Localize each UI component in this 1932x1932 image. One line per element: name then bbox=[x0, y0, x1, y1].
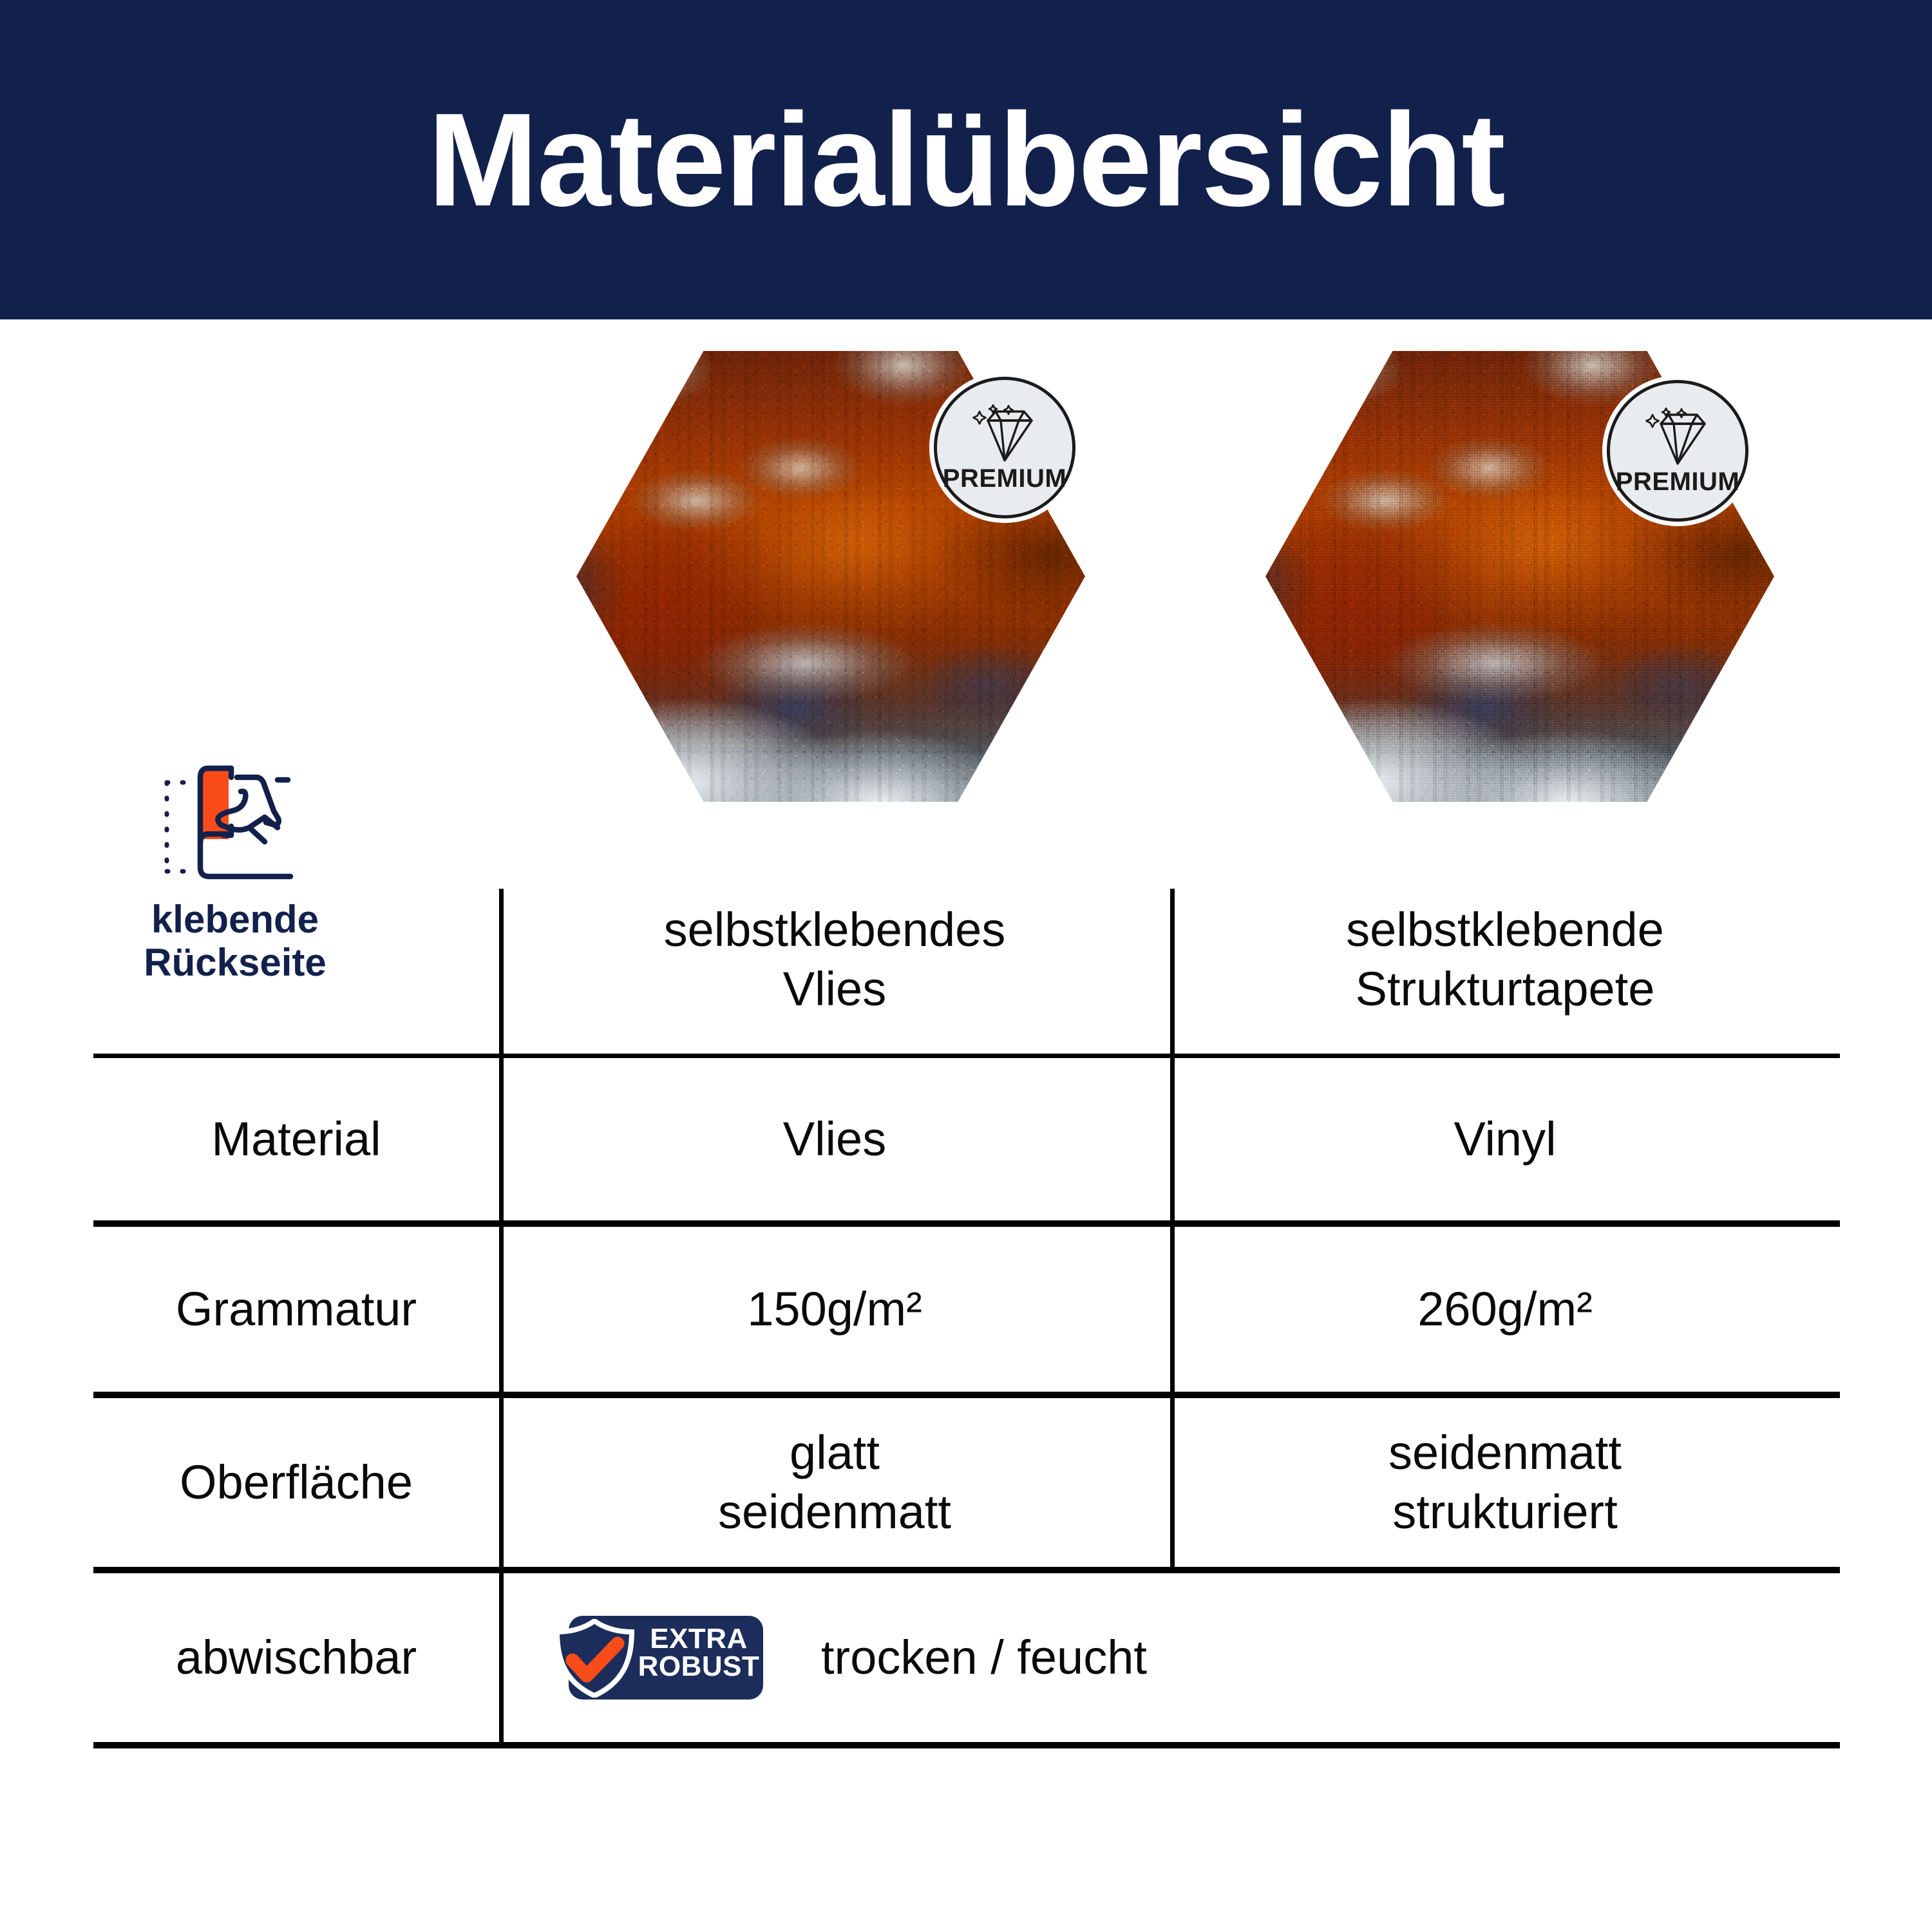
row-divider bbox=[93, 1220, 1840, 1227]
material-comparison-table: selbstklebendes Vlies selbstklebende Str… bbox=[93, 889, 1840, 1748]
diamond-icon bbox=[969, 404, 1041, 463]
table-row-oberflaeche: Oberfläche glatt seidenmatt seidenmatt s… bbox=[93, 1398, 1840, 1567]
extra-robust-line2: ROBUST bbox=[636, 1653, 762, 1680]
product-name-vlies-line2: Vlies bbox=[783, 962, 886, 1016]
table-row-material: Material Vlies Vinyl bbox=[93, 1058, 1840, 1220]
oberflaeche-vlies-line1: glatt bbox=[790, 1426, 880, 1479]
premium-badge-strukturtapete: PREMIUM bbox=[1607, 380, 1748, 522]
oberflaeche-strukturtapete-line2: strukturiert bbox=[1392, 1485, 1618, 1539]
cell-abwischbar-value: EXTRA ROBUST trocken / feucht bbox=[499, 1573, 1840, 1742]
cell-material-vlies: Vlies bbox=[499, 1058, 1170, 1220]
table-row-abwischbar: abwischbar EXTRA ROBUST trocken / feucht bbox=[93, 1573, 1840, 1742]
premium-badge-vlies: PREMIUM bbox=[934, 377, 1075, 518]
column-divider-2 bbox=[1170, 1058, 1175, 1220]
table-row-product-names: selbstklebendes Vlies selbstklebende Str… bbox=[93, 889, 1840, 1054]
cell-product-name-strukturtapete: selbstklebende Strukturtapete bbox=[1170, 889, 1840, 1054]
diamond-icon bbox=[1642, 407, 1714, 466]
sample-preview-strukturtapete: PREMIUM bbox=[1265, 351, 1774, 802]
cell-product-name-vlies: selbstklebendes Vlies bbox=[499, 889, 1170, 1054]
material-overview-page: Materialübersicht bbox=[0, 0, 1932, 1932]
row-divider bbox=[93, 1392, 1840, 1398]
column-divider-2 bbox=[1170, 1227, 1175, 1392]
extra-robust-badge: EXTRA ROBUST bbox=[551, 1616, 763, 1700]
cell-oberflaeche-strukturtapete: seidenmatt strukturiert bbox=[1170, 1398, 1840, 1567]
cell-grammatur-strukturtapete: 260g/m² bbox=[1170, 1227, 1840, 1392]
row-label-grammatur: Grammatur bbox=[93, 1227, 499, 1392]
row-divider bbox=[93, 1054, 1840, 1058]
row-divider bbox=[93, 1567, 1840, 1573]
premium-badge-label: PREMIUM bbox=[1616, 469, 1739, 495]
column-divider-1 bbox=[499, 1058, 504, 1220]
oberflaeche-vlies-line2: seidenmatt bbox=[718, 1485, 951, 1539]
row-label-material: Material bbox=[93, 1058, 499, 1220]
cell-material-strukturtapete: Vinyl bbox=[1170, 1058, 1840, 1220]
shield-check-icon bbox=[551, 1619, 638, 1698]
table-bottom-border bbox=[93, 1742, 1840, 1748]
column-divider-1 bbox=[499, 1398, 504, 1567]
extra-robust-line1: EXTRA bbox=[636, 1625, 762, 1653]
premium-badge-label: PREMIUM bbox=[943, 466, 1066, 491]
cell-grammatur-vlies: 150g/m² bbox=[499, 1227, 1170, 1392]
cell-oberflaeche-vlies: glatt seidenmatt bbox=[499, 1398, 1170, 1567]
column-divider-2 bbox=[1170, 1398, 1175, 1567]
table-row-grammatur: Grammatur 150g/m² 260g/m² bbox=[93, 1227, 1840, 1392]
sample-preview-vlies: PREMIUM bbox=[576, 351, 1085, 802]
product-name-vlies-line1: selbstklebendes bbox=[664, 903, 1006, 956]
peel-sticker-icon bbox=[151, 763, 319, 889]
column-divider-2 bbox=[1170, 889, 1175, 1054]
product-name-strukturtapete-line2: Strukturtapete bbox=[1356, 962, 1655, 1016]
column-divider-1 bbox=[499, 889, 504, 1054]
column-divider-1 bbox=[499, 1227, 504, 1392]
row-label-oberflaeche: Oberfläche bbox=[93, 1398, 499, 1567]
abwischbar-value-text: trocken / feucht bbox=[821, 1628, 1147, 1687]
page-header: Materialübersicht bbox=[0, 0, 1932, 319]
extra-robust-badge-text: EXTRA ROBUST bbox=[636, 1625, 762, 1680]
oberflaeche-strukturtapete-line1: seidenmatt bbox=[1388, 1426, 1622, 1479]
row-label-abwischbar: abwischbar bbox=[93, 1573, 499, 1742]
product-name-strukturtapete-line1: selbstklebende bbox=[1346, 903, 1664, 956]
page-title: Materialübersicht bbox=[428, 93, 1504, 226]
column-divider-1 bbox=[499, 1573, 504, 1742]
